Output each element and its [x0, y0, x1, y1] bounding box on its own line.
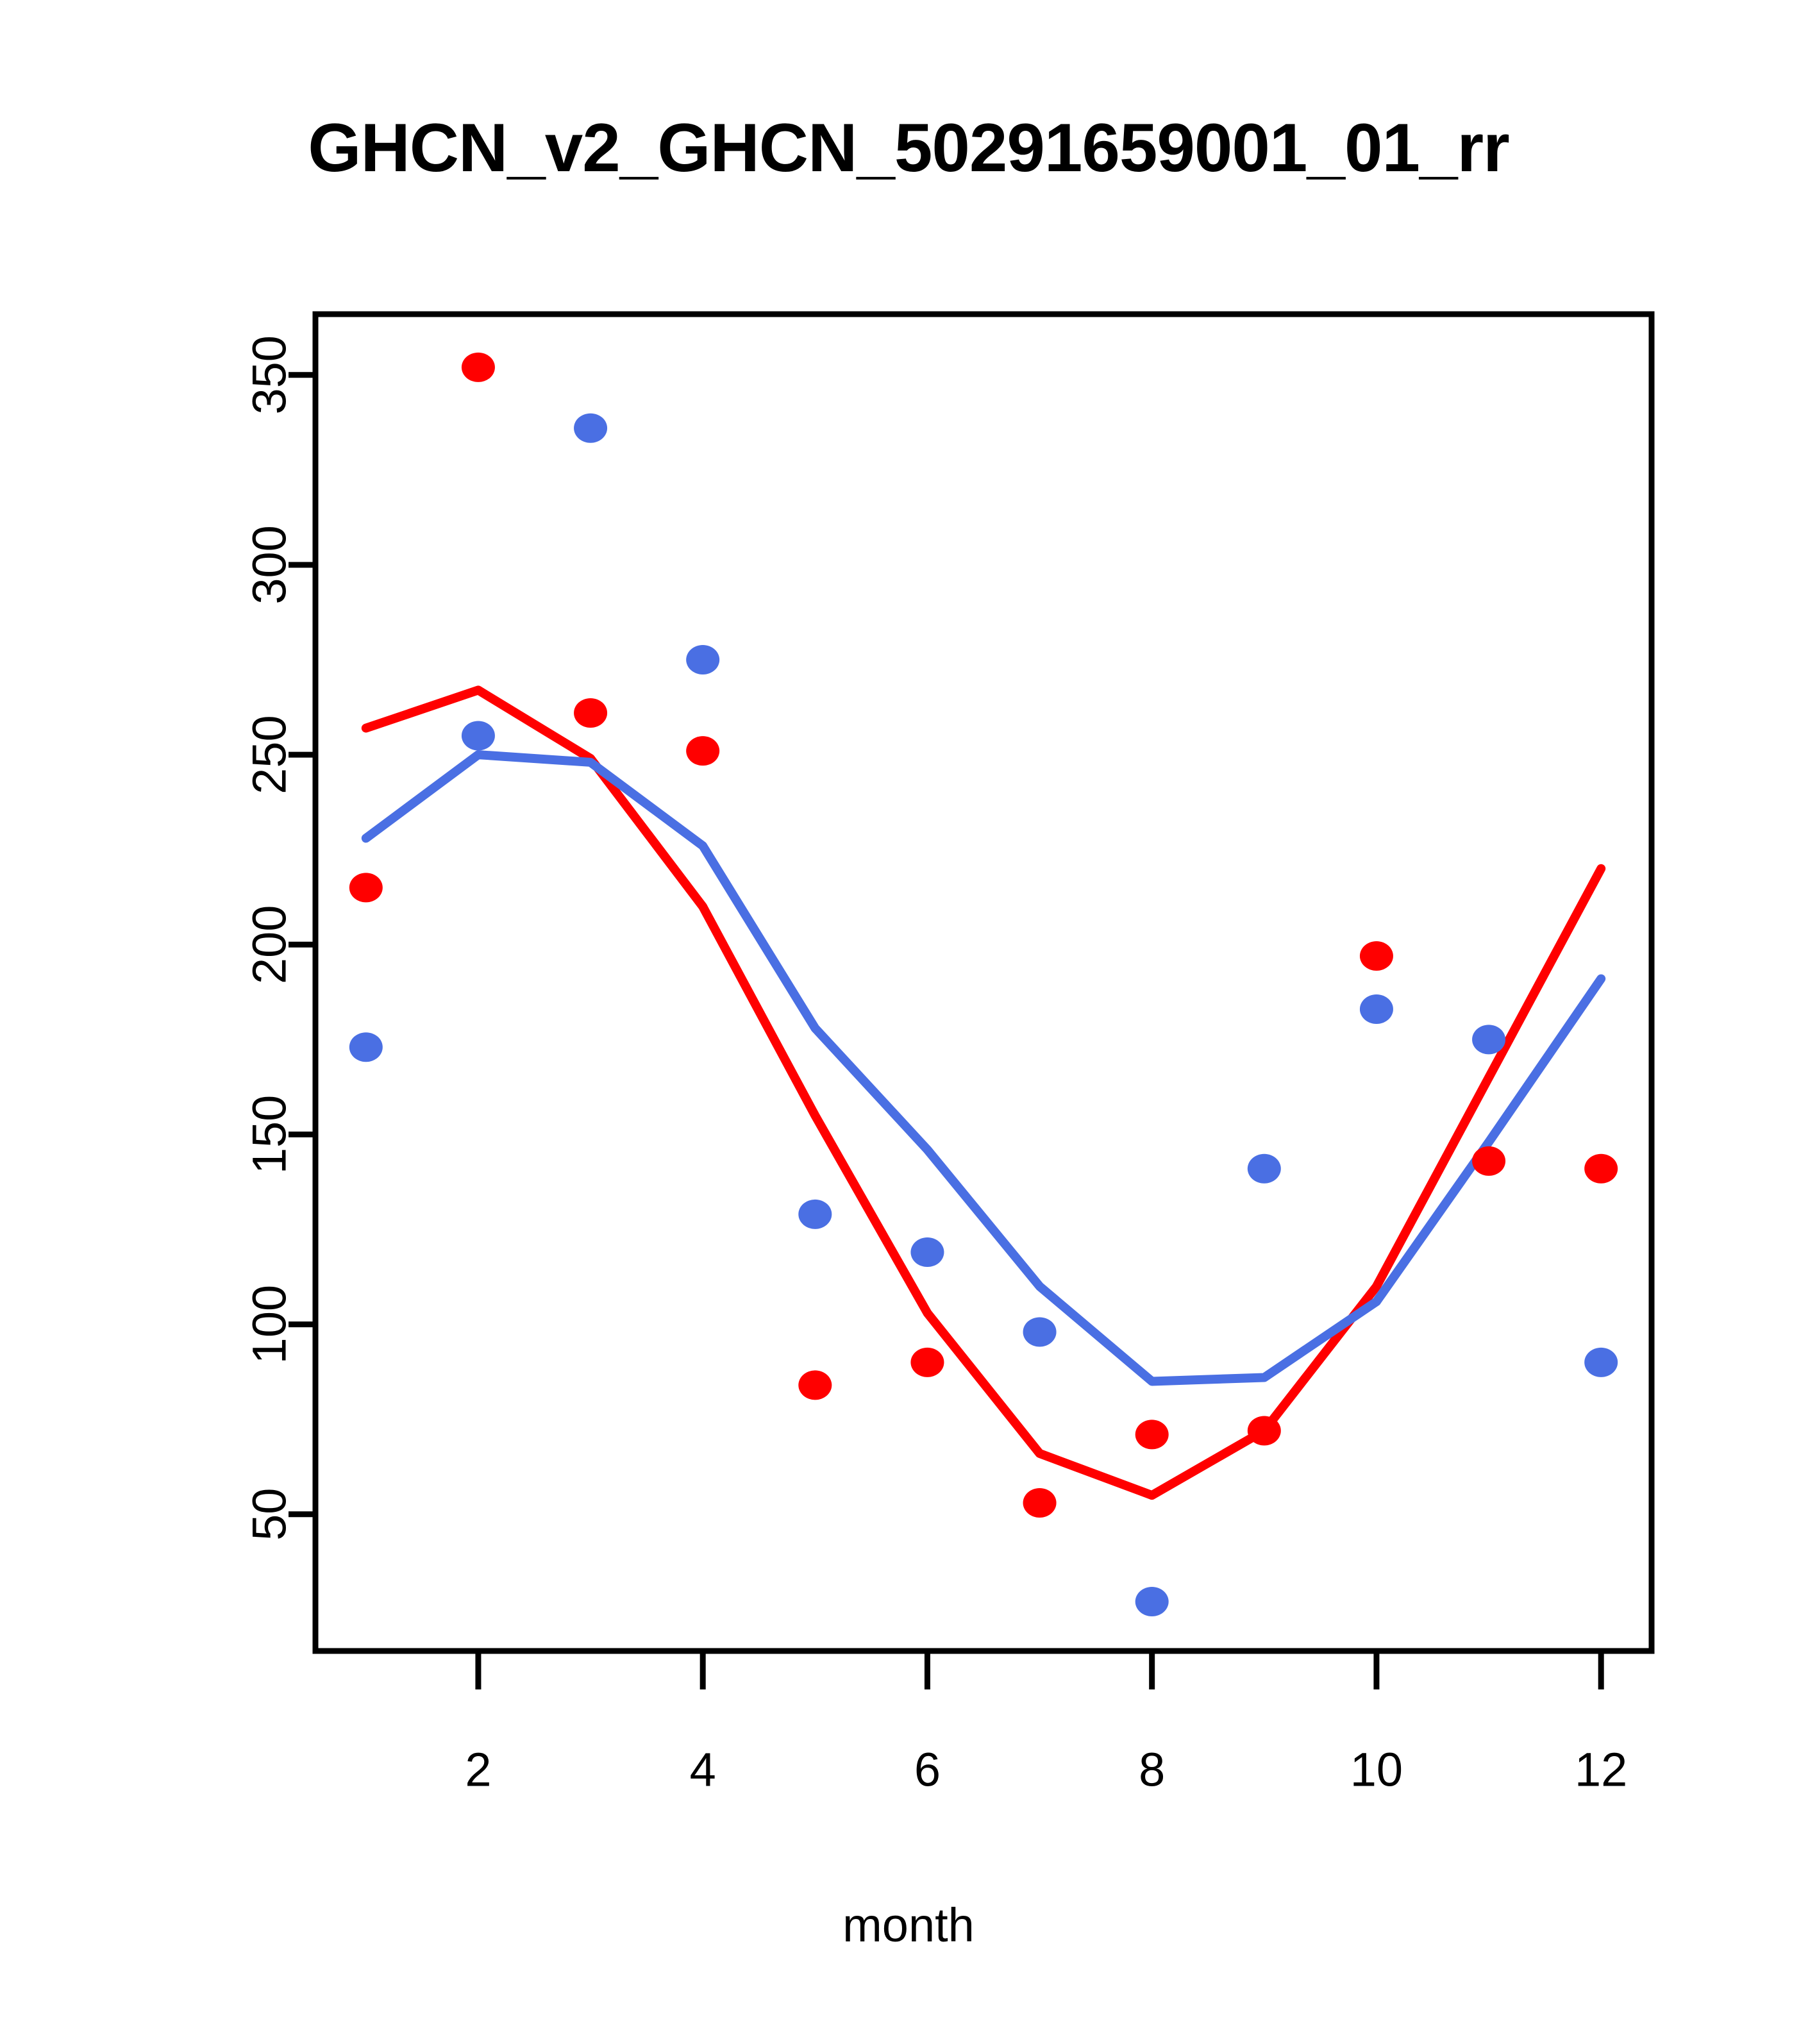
data-point-red-points: [349, 873, 383, 902]
data-point-red-points: [686, 736, 719, 766]
data-point-red-points: [1023, 1488, 1057, 1518]
data-point-red-points: [910, 1348, 944, 1377]
figure-canvas: GHCN_v2_GHCN_50291659001_01_rr 501001502…: [0, 0, 1817, 2044]
x-axis-tick-label: 2: [465, 1743, 491, 1797]
data-point-blue-points: [1584, 1348, 1618, 1377]
y-axis-tick-label: 350: [243, 335, 296, 414]
x-axis-tick-label: 6: [914, 1743, 941, 1797]
data-point-red-points: [1248, 1416, 1281, 1445]
data-point-blue-points: [349, 1032, 383, 1062]
data-point-blue-points: [1248, 1154, 1281, 1184]
y-axis-tick-label: 200: [243, 905, 296, 984]
data-point-blue-points: [798, 1200, 832, 1229]
x-axis-tick-label: 10: [1350, 1743, 1403, 1797]
data-point-blue-points: [462, 721, 495, 750]
y-axis-tick-label: 50: [243, 1488, 296, 1541]
x-axis-tick-label: 4: [690, 1743, 716, 1797]
data-point-blue-points: [910, 1237, 944, 1267]
scatter-plot: 50100150200250300350 24681012: [0, 0, 1817, 2044]
y-axis-tick-label: 100: [243, 1285, 296, 1364]
data-point-red-points: [462, 353, 495, 382]
data-point-blue-points: [686, 645, 719, 674]
y-axis-tick-label: 300: [243, 525, 296, 604]
data-point-red-points: [574, 698, 607, 728]
x-axis-label: month: [0, 1898, 1817, 1952]
y-axis-tick-label: 250: [243, 715, 296, 794]
data-point-red-points: [1360, 941, 1393, 971]
data-point-red-points: [1135, 1420, 1169, 1449]
data-point-red-points: [1584, 1154, 1618, 1184]
y-axis-tick-label: 150: [243, 1095, 296, 1174]
y-axis: 50100150200250300350: [243, 335, 316, 1541]
data-point-blue-points: [1023, 1317, 1057, 1346]
x-axis-tick-label: 8: [1139, 1743, 1165, 1797]
series-line-blue-line: [366, 755, 1601, 1381]
data-point-blue-points: [1135, 1587, 1169, 1616]
data-point-red-points: [798, 1370, 832, 1400]
series-points: [349, 353, 1618, 1616]
x-axis-tick-label: 12: [1575, 1743, 1627, 1797]
x-axis: 24681012: [465, 1651, 1627, 1797]
data-point-blue-points: [1360, 994, 1393, 1024]
series-line-red-line: [366, 690, 1601, 1495]
data-point-blue-points: [574, 414, 607, 443]
series-lines: [366, 690, 1601, 1495]
plot-frame: [315, 314, 1652, 1651]
data-point-red-points: [1472, 1146, 1505, 1176]
data-point-blue-points: [1472, 1025, 1505, 1054]
